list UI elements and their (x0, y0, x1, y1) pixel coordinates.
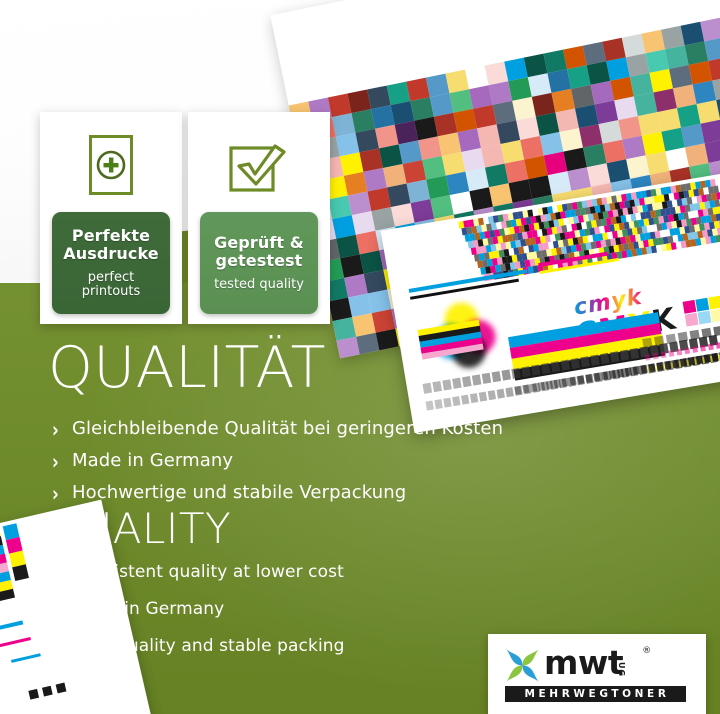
chevron-right-icon: › (52, 601, 68, 622)
badge-label-en-line1: tested quality (214, 278, 304, 292)
bullet-text: Gleichbleibende Qualität bei geringeren … (72, 420, 503, 439)
heading-qualitaet: QUALITÄT (48, 340, 326, 397)
bullet-list-en: ›Consistent quality at lower cost›Made i… (52, 564, 345, 675)
badge-label-de: Geprüft & getestest (214, 234, 304, 269)
badge-label-de-line2: getestest (214, 252, 304, 269)
badge-card-perfect-printouts[interactable]: Perfekte Ausdrucke perfect printouts (40, 112, 182, 324)
swatch-matrix (683, 293, 720, 326)
mwt-logo: mwt UG ® MEHRWEGTONER (505, 648, 686, 702)
bullet-text: Made in Germany (72, 601, 224, 619)
bullet-item: ›Made in Germany (52, 452, 503, 473)
badge-label-de-line2: Ausdrucke (63, 245, 158, 262)
document-plus-icon (40, 126, 182, 204)
badge-card-tested-quality[interactable]: Geprüft & getestest tested quality (188, 112, 330, 324)
badge-label-en: tested quality (214, 278, 304, 292)
badge-label-en-line1: perfect (82, 271, 141, 285)
checkbox-pen-icon (188, 126, 330, 204)
bullet-item: ›Consistent quality at lower cost (52, 564, 345, 585)
chevron-right-icon: › (52, 452, 68, 473)
bullet-item: ›Made in Germany (52, 601, 345, 622)
chevron-right-icon: › (52, 564, 68, 585)
bullet-text: Made in Germany (72, 452, 233, 471)
banner-canvas: cmyk CMYK (0, 0, 720, 714)
chevron-right-icon: › (52, 484, 68, 505)
pinwheel-icon (505, 648, 540, 683)
bullet-text: Consistent quality at lower cost (72, 564, 344, 582)
heading-quality: QUALITY (48, 508, 231, 550)
bullet-text: High quality and stable packing (72, 638, 345, 656)
registered-trademark-icon: ® (642, 646, 651, 656)
badge-label-de: Perfekte Ausdrucke (63, 227, 158, 262)
mwt-wordmark: mwt (544, 648, 623, 678)
badge-label-de-line1: Perfekte (63, 227, 158, 244)
mwt-subtitle: MEHRWEGTONER (505, 686, 686, 702)
badge-label-en: perfect printouts (82, 271, 141, 299)
bullet-item: ›Gleichbleibende Qualität bei geringeren… (52, 420, 503, 441)
mwt-logo-card[interactable]: mwt UG ® MEHRWEGTONER (488, 634, 706, 714)
mwt-legal-form: UG (617, 662, 626, 677)
bullet-item: ›Hochwertige und stabile Verpackung (52, 484, 503, 505)
badge-label-en-line2: printouts (82, 285, 141, 299)
badge-label-box: Perfekte Ausdrucke perfect printouts (52, 212, 170, 314)
chevron-right-icon: › (52, 638, 68, 659)
bullet-text: Hochwertige und stabile Verpackung (72, 484, 406, 503)
chevron-right-icon: › (52, 420, 68, 441)
bullet-list-de: ›Gleichbleibende Qualität bei geringeren… (52, 420, 503, 516)
badge-label-de-line1: Geprüft & (214, 234, 304, 251)
bullet-item: ›High quality and stable packing (52, 638, 345, 659)
badge-label-box: Geprüft & getestest tested quality (200, 212, 318, 314)
